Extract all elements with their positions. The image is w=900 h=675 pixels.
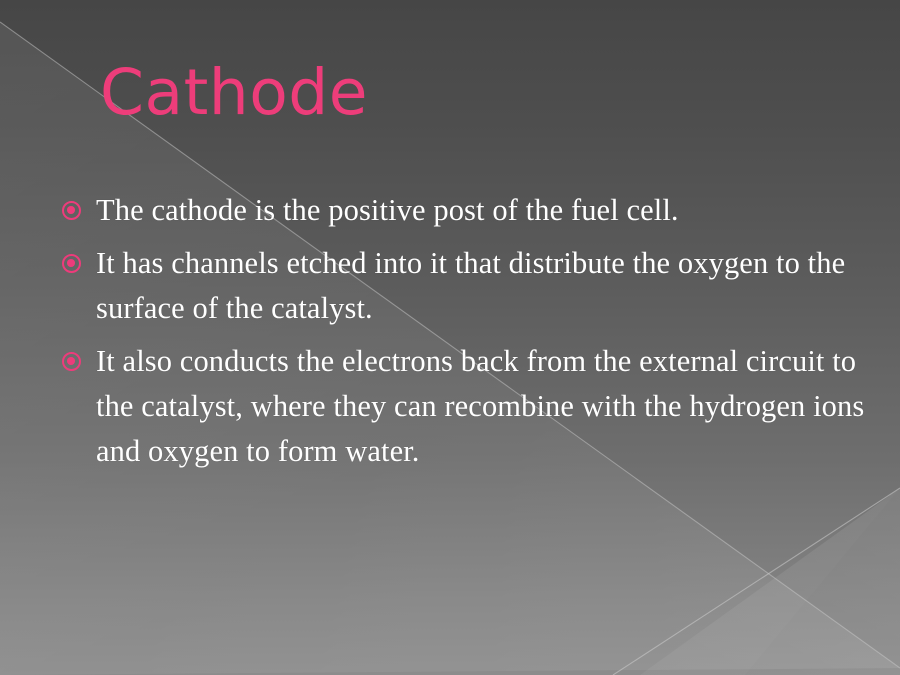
ring-dot-bullet-icon xyxy=(62,352,81,371)
list-item: It also conducts the electrons back from… xyxy=(56,339,868,474)
page-title: Cathode xyxy=(100,61,368,124)
list-item-text: The cathode is the positive post of the … xyxy=(96,188,868,233)
slide-body-content: The cathode is the positive post of the … xyxy=(56,188,868,474)
slide-title-container: Cathode xyxy=(100,52,840,132)
list-item: The cathode is the positive post of the … xyxy=(56,188,868,233)
list-item-text: It also conducts the electrons back from… xyxy=(96,339,868,474)
ring-dot-bullet-icon xyxy=(62,201,81,220)
list-item: It has channels etched into it that dist… xyxy=(56,241,868,331)
ring-dot-bullet-icon xyxy=(62,254,81,273)
list-item-text: It has channels etched into it that dist… xyxy=(96,241,868,331)
presentation-slide: Cathode The cathode is the positive post… xyxy=(0,0,900,675)
